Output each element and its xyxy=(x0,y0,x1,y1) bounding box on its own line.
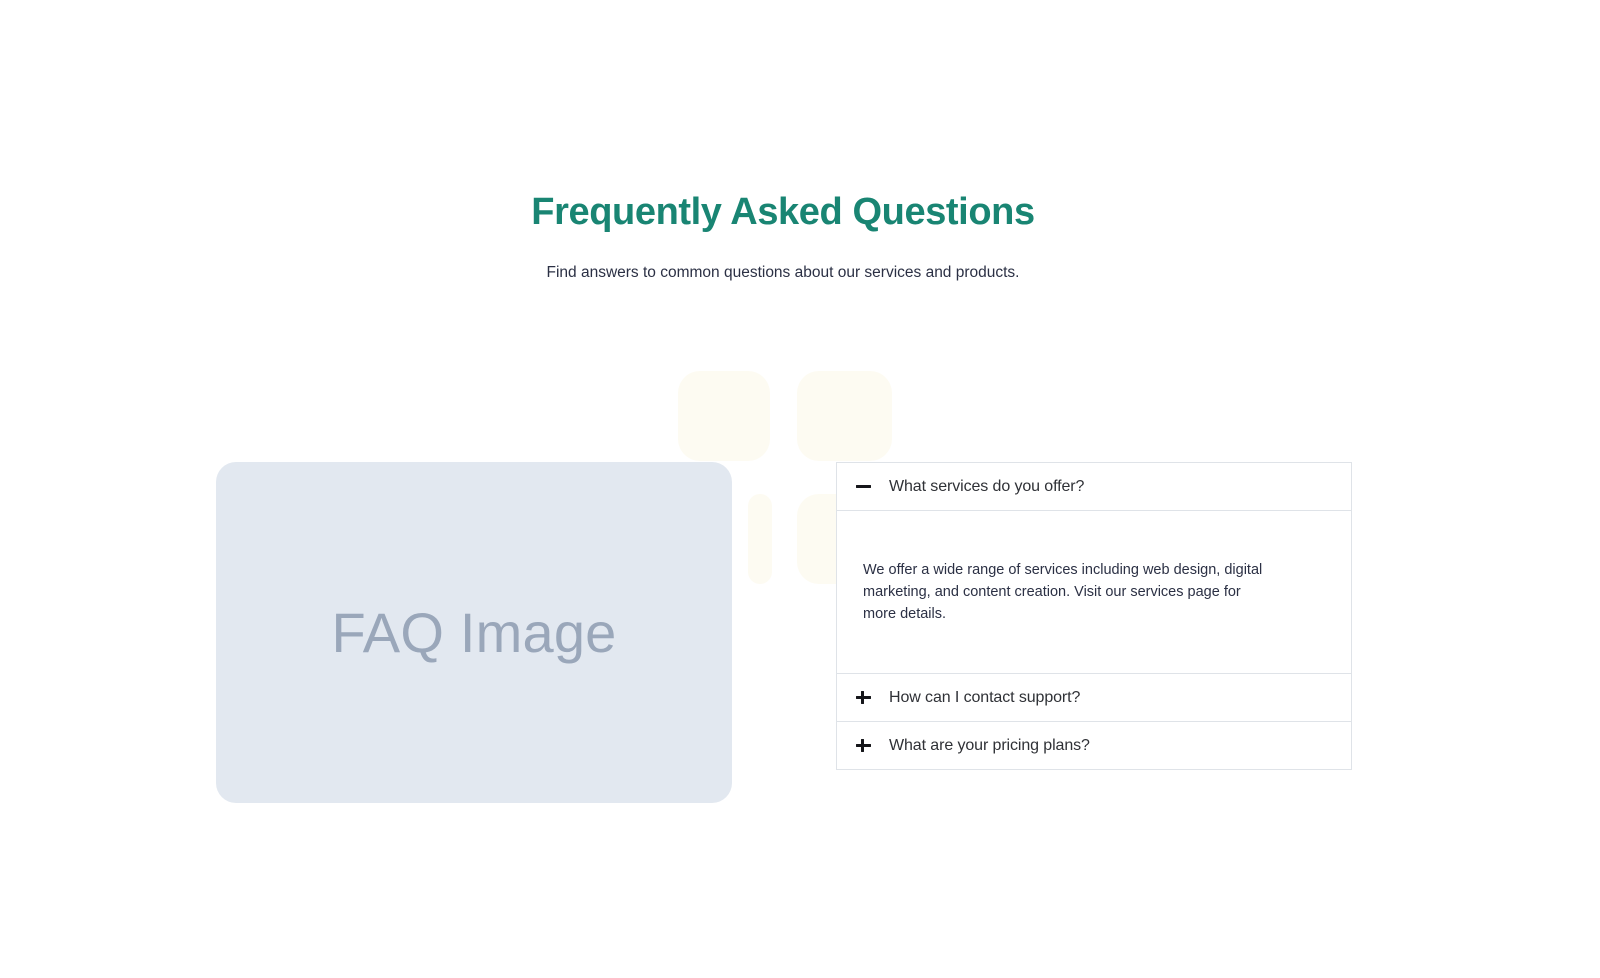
faq-accordion: What services do you offer? We offer a w… xyxy=(836,462,1352,770)
accordion-question-3: What are your pricing plans? xyxy=(889,736,1090,755)
accordion-panel-1: We offer a wide range of services includ… xyxy=(837,511,1351,674)
minus-icon[interactable] xyxy=(855,478,872,495)
accordion-question-1: What services do you offer? xyxy=(889,477,1084,496)
page-subtitle: Find answers to common questions about o… xyxy=(0,261,1566,284)
faq-header: Frequently Asked Questions Find answers … xyxy=(0,190,1566,284)
faq-image-label: FAQ Image xyxy=(331,605,616,661)
accordion-header-3[interactable]: What are your pricing plans? xyxy=(837,722,1351,769)
accordion-header-1[interactable]: What services do you offer? xyxy=(837,463,1351,510)
accordion-question-2: How can I contact support? xyxy=(889,688,1080,707)
accordion-item-2: How can I contact support? xyxy=(837,674,1351,722)
faq-image-placeholder: FAQ Image xyxy=(216,462,732,803)
faq-page: Frequently Asked Questions Find answers … xyxy=(0,0,1600,978)
accordion-item-1: What services do you offer? xyxy=(837,463,1351,511)
faq-content: FAQ Image What services do you offer? We… xyxy=(0,0,1600,978)
accordion-answer-1: We offer a wide range of services includ… xyxy=(863,559,1275,625)
page-title: Frequently Asked Questions xyxy=(0,190,1566,235)
plus-icon[interactable] xyxy=(855,737,872,754)
accordion-item-3: What are your pricing plans? xyxy=(837,722,1351,770)
accordion-header-2[interactable]: How can I contact support? xyxy=(837,674,1351,721)
plus-icon[interactable] xyxy=(855,689,872,706)
